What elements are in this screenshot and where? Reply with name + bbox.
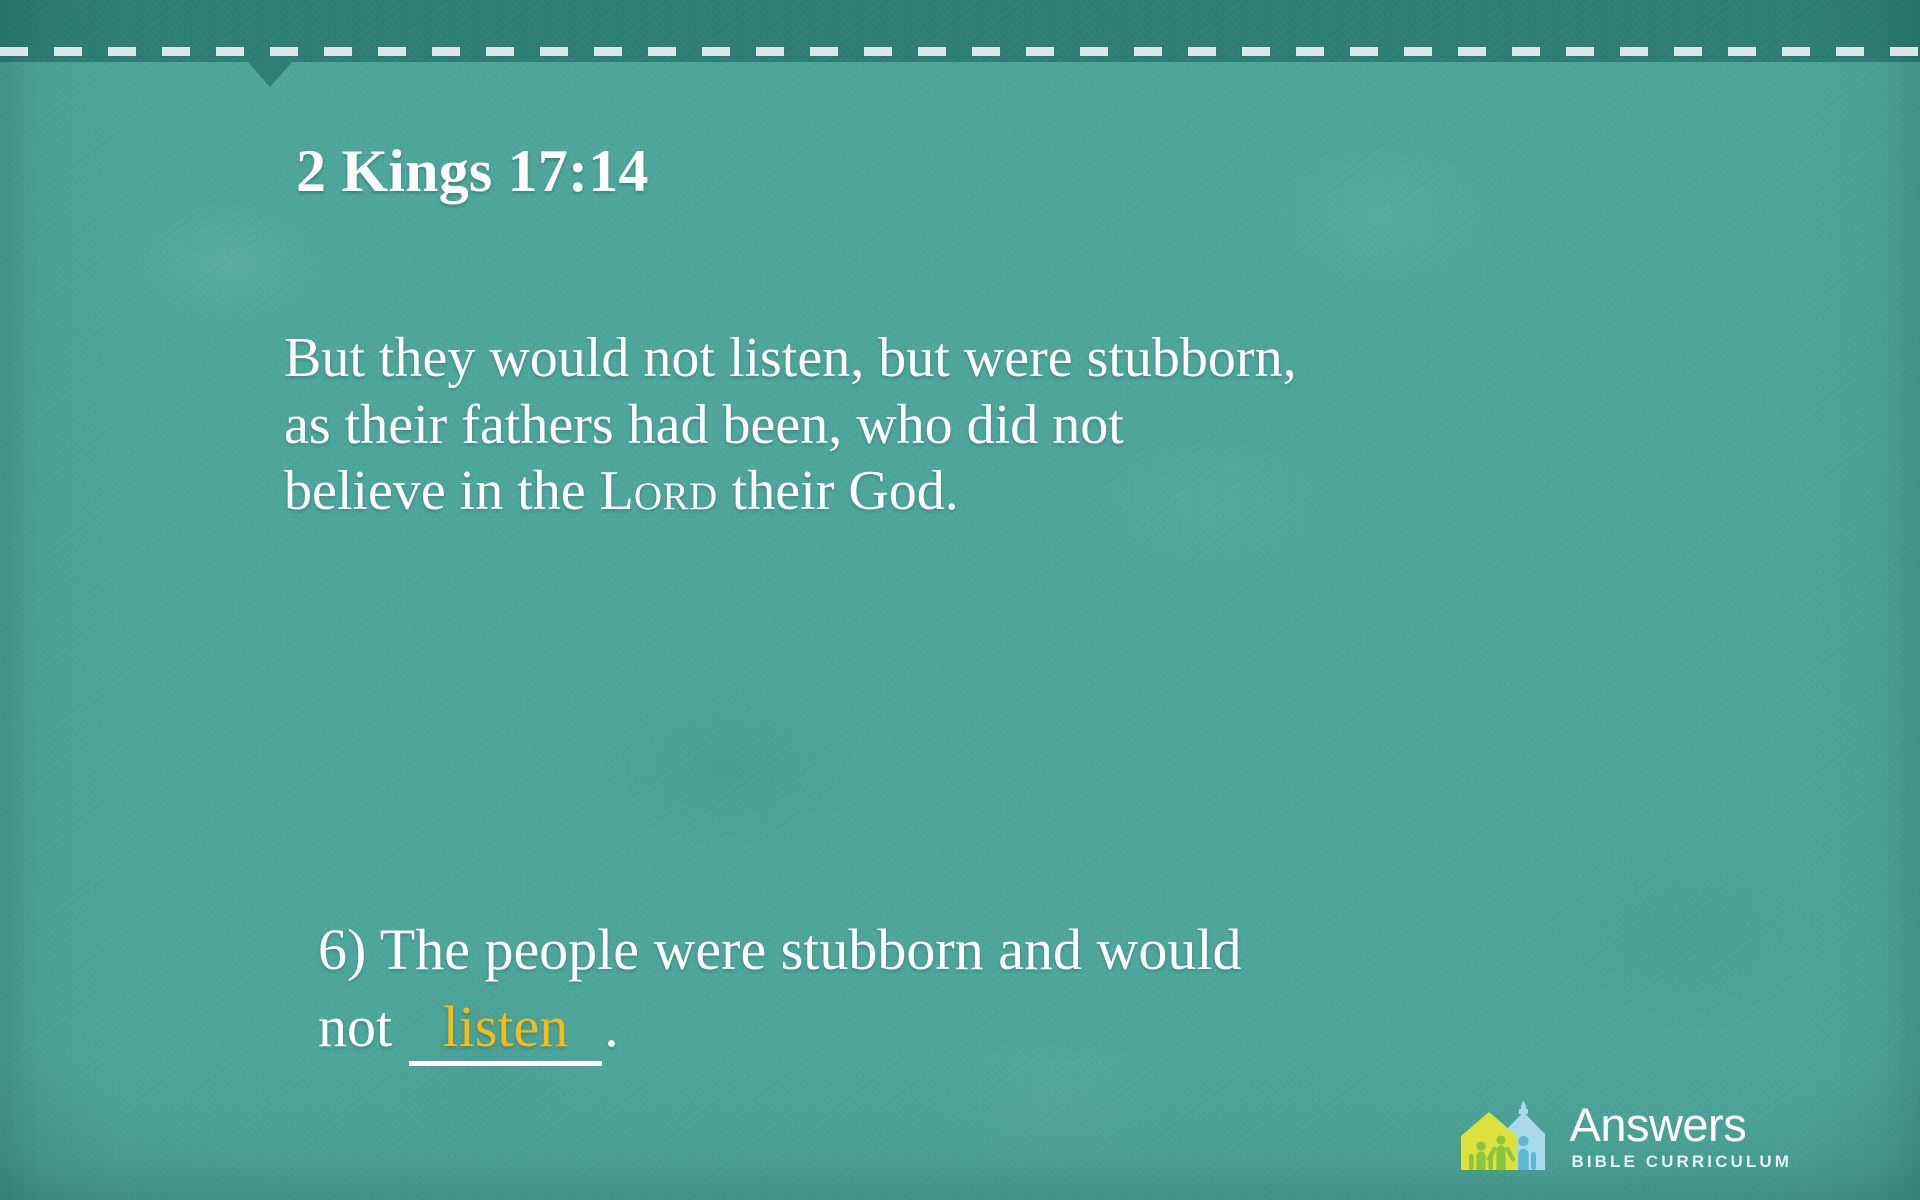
- slide-root: 2 Kings 17:14 But they would not listen,…: [0, 0, 1920, 1200]
- question-line-2-prefix: not: [318, 994, 407, 1059]
- logo-subtitle: BIBLE CURRICULUM: [1571, 1153, 1792, 1170]
- review-question: 6) The people were stubborn and would no…: [318, 912, 1818, 1065]
- question-line-2: not listen.: [318, 989, 1818, 1066]
- slide-content: 2 Kings 17:14 But they would not listen,…: [0, 0, 1920, 1200]
- fill-in-blank-answer: listen: [409, 994, 603, 1066]
- logo-title: Answers: [1569, 1101, 1792, 1148]
- house-icon: [1461, 1112, 1517, 1170]
- lord-divine-name: Lord: [600, 460, 718, 522]
- logo-wordmark: Answers BIBLE CURRICULUM: [1569, 1101, 1792, 1170]
- verse-line-2: as their fathers had been, who did not: [284, 392, 1804, 459]
- verse-line-3: believe in the Lord their God.: [284, 458, 1804, 525]
- scripture-reference-heading: 2 Kings 17:14: [296, 140, 649, 203]
- lord-small-caps: ord: [634, 460, 718, 522]
- house-and-church-icon: [1459, 1096, 1555, 1174]
- question-line-2-suffix: .: [604, 994, 619, 1059]
- verse-line-3-prefix: believe in the: [284, 460, 600, 522]
- answers-bible-curriculum-logo: Answers BIBLE CURRICULUM: [1459, 1096, 1792, 1174]
- lord-initial-cap: L: [600, 460, 634, 522]
- question-line-1: 6) The people were stubborn and would: [318, 912, 1818, 989]
- verse-line-1: But they would not listen, but were stub…: [284, 325, 1804, 392]
- scripture-verse-text: But they would not listen, but were stub…: [284, 325, 1804, 525]
- verse-line-3-suffix: their God.: [718, 460, 959, 522]
